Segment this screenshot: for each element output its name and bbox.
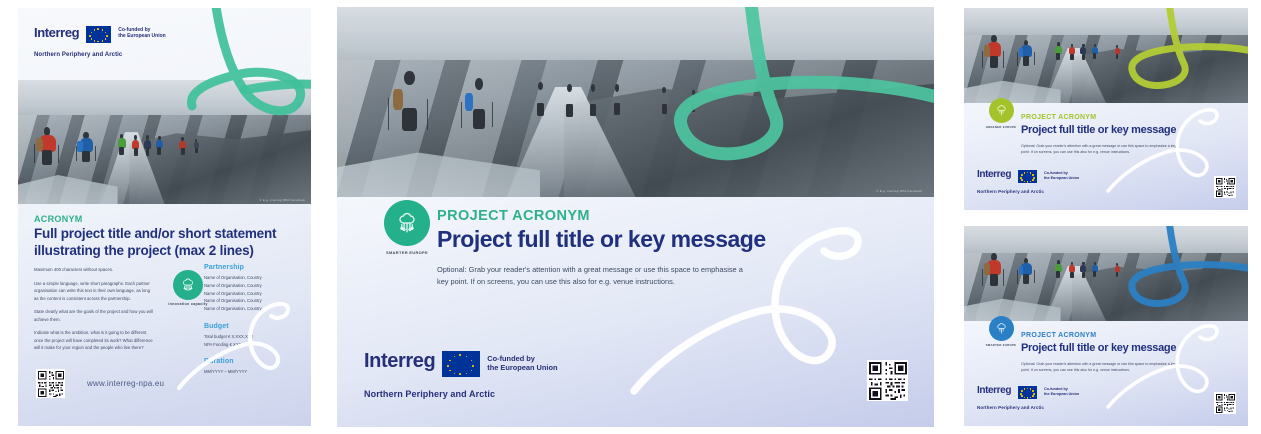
poster-portrait: Interreg Co-funded by the European Union [18, 8, 311, 426]
hiker-figure [144, 140, 151, 156]
tree-network-icon [994, 321, 1009, 336]
qr-code-icon[interactable] [1214, 392, 1236, 414]
partner-name: Name of Organisation, Country [204, 274, 304, 282]
hiker-figure [194, 142, 199, 153]
glacier-photo [964, 8, 1248, 103]
partner-name: Name of Organisation, Country [204, 305, 304, 313]
hiker-figure [987, 260, 1001, 286]
description-paragraph: Use a simple language, write short parag… [34, 280, 154, 303]
budget-total: Total budget € X,XXX,XXX [204, 333, 304, 341]
poster-footer: www.interreg-npa.eu [36, 369, 164, 398]
section-heading: Partnership [204, 264, 304, 271]
poster-footer: Interreg Co-funded by the European Union [977, 386, 1079, 410]
hiker-figure [612, 91, 623, 115]
fact-group-partnership: Partnership Name of Organisation, Countr… [204, 264, 304, 313]
badge-label: GREENER EUROPE [977, 125, 1025, 129]
hiker-figure [987, 42, 1001, 68]
eu-funding-line2: the European Union [1044, 176, 1079, 181]
eu-flag-icon [86, 26, 111, 43]
priority-badge: GREENER EUROPE [977, 98, 1025, 129]
partner-name: Name of Organisation, Country [204, 290, 304, 298]
hiker-figure [588, 91, 599, 116]
qr-code-icon[interactable] [1214, 176, 1236, 198]
hiker-figure [468, 89, 489, 129]
website-url[interactable]: www.interreg-npa.eu [87, 379, 164, 388]
hiker-figure [1080, 47, 1086, 60]
eu-funding-line2: the European Union [1044, 392, 1079, 397]
section-heading: Budget [204, 323, 304, 330]
project-acronym: PROJECT ACRONYM [1021, 114, 1096, 121]
hiker-figure [1080, 265, 1086, 278]
section-heading: Duration [204, 358, 304, 365]
poster-mini-green: GREENER EUROPE PROJECT ACRONYM Project f… [964, 8, 1248, 210]
fact-group-budget: Budget Total budget € X,XXX,XXX NPA Fund… [204, 323, 304, 349]
eu-funding-line1: Co-funded by [487, 354, 557, 363]
glacier-photo: © E.g. Interreg NPA Facebook [18, 80, 311, 204]
interreg-logo: Interreg Co-funded by the European Union [977, 386, 1079, 399]
project-message: Optional: Grab your reader's attention w… [1021, 362, 1181, 374]
duration-range: MM/YYYY – MM/YYYY [204, 368, 304, 376]
programme-name: Northern Periphery and Arctic [364, 389, 557, 399]
hiker-figure [1021, 45, 1032, 66]
hiker-figure [118, 138, 126, 155]
eu-funding-text: Co-funded by the European Union [487, 351, 557, 372]
eu-flag-icon [1018, 386, 1037, 399]
hiker-figure [689, 94, 697, 112]
hiker-figure [1021, 263, 1032, 284]
interreg-logo: Interreg Co-funded by the European Union [364, 351, 557, 377]
project-title: Project full title or key message [1021, 124, 1176, 136]
poster-hero: © E.g. Interreg NPA Facebook SMARTER EUR… [337, 7, 934, 427]
hiker-figure [156, 140, 163, 155]
project-message: Optional: Grab your reader's attention w… [437, 264, 749, 288]
hiker-figure [1069, 265, 1075, 278]
interreg-wordmark: Interreg [364, 351, 435, 371]
project-description: Maximum 400 characters without spaces. U… [34, 266, 154, 358]
eu-funding-text: Co-funded by the European Union [1044, 170, 1079, 180]
partner-name: Name of Organisation, Country [204, 282, 304, 290]
glacier-photo: © E.g. Interreg NPA Facebook [337, 7, 934, 197]
hiker-figure [1115, 48, 1120, 59]
tree-network-icon [393, 209, 421, 237]
hiker-figure [564, 91, 576, 117]
hiker-figure [1069, 47, 1075, 60]
hiker-figure [39, 135, 56, 165]
poster-footer: Interreg Co-funded by the European Union [977, 170, 1079, 194]
photo-credit: © E.g. Interreg NPA Facebook [876, 189, 922, 193]
budget-funding: NPA Funding € XXX,XXX [204, 341, 304, 349]
eu-flag-icon [442, 351, 480, 377]
project-acronym: PROJECT ACRONYM [1021, 332, 1096, 339]
description-paragraph: Indicate what is the ambition, what is i… [34, 329, 154, 352]
badge-label: SMARTER EUROPE [977, 343, 1025, 347]
eu-funding-text: Co-funded by the European Union [118, 26, 166, 39]
project-acronym: PROJECT ACRONYM [437, 208, 590, 224]
eu-funding-line2: the European Union [118, 33, 166, 39]
hiker-figure [1055, 264, 1062, 278]
poster-footer: Interreg Co-funded by the European Union [364, 351, 557, 399]
hiker-figure [1092, 47, 1098, 59]
description-paragraph: Maximum 400 characters without spaces. [34, 266, 154, 274]
project-facts: Partnership Name of Organisation, Countr… [204, 264, 304, 386]
hiker-figure [659, 93, 669, 115]
description-paragraph: State clearly what are the goals of the … [34, 308, 154, 323]
qr-code-icon[interactable] [36, 369, 65, 398]
poster-mini-blue: SMARTER EUROPE PROJECT ACRONYM Project f… [964, 226, 1248, 426]
programme-name: Northern Periphery and Arctic [977, 405, 1079, 410]
hiker-figure [1055, 46, 1062, 60]
project-title: Project full title or key message [437, 226, 766, 253]
tree-network-icon [179, 276, 197, 294]
tree-network-icon [994, 103, 1009, 118]
programme-name: Northern Periphery and Arctic [34, 52, 166, 58]
project-acronym: ACRONYM [34, 214, 83, 224]
programme-name: Northern Periphery and Arctic [977, 189, 1079, 194]
poster-gallery: Interreg Co-funded by the European Union [0, 0, 1261, 434]
hiker-figure [534, 89, 547, 116]
project-title: Full project title and/or short statemen… [34, 225, 296, 260]
interreg-wordmark: Interreg [977, 386, 1011, 396]
interreg-logo: Interreg Co-funded by the European Union [977, 170, 1079, 183]
brand-header: Interreg Co-funded by the European Union [34, 26, 166, 58]
hiker-figure [80, 138, 93, 162]
project-title: Project full title or key message [1021, 342, 1176, 354]
hiker-figure [132, 140, 139, 156]
priority-badge: SMARTER EUROPE [977, 316, 1025, 347]
eu-funding-text: Co-funded by the European Union [1044, 386, 1079, 396]
fact-group-duration: Duration MM/YYYY – MM/YYYY [204, 358, 304, 376]
qr-code-icon[interactable] [867, 360, 908, 401]
interreg-wordmark: Interreg [977, 170, 1011, 180]
glacier-photo [964, 226, 1248, 321]
partner-name: Name of Organisation, Country [204, 297, 304, 305]
hiker-figure [1092, 265, 1098, 277]
hiker-figure [397, 83, 423, 131]
project-message: Optional: Grab your reader's attention w… [1021, 144, 1181, 156]
interreg-logo: Interreg Co-funded by the European Union [34, 26, 166, 43]
photo-credit: © E.g. Interreg NPA Facebook [259, 198, 305, 202]
eu-funding-line2: the European Union [487, 363, 557, 372]
hiker-figure [179, 141, 186, 155]
eu-flag-icon [1018, 170, 1037, 183]
interreg-wordmark: Interreg [34, 26, 79, 39]
hiker-figure [1115, 266, 1120, 277]
